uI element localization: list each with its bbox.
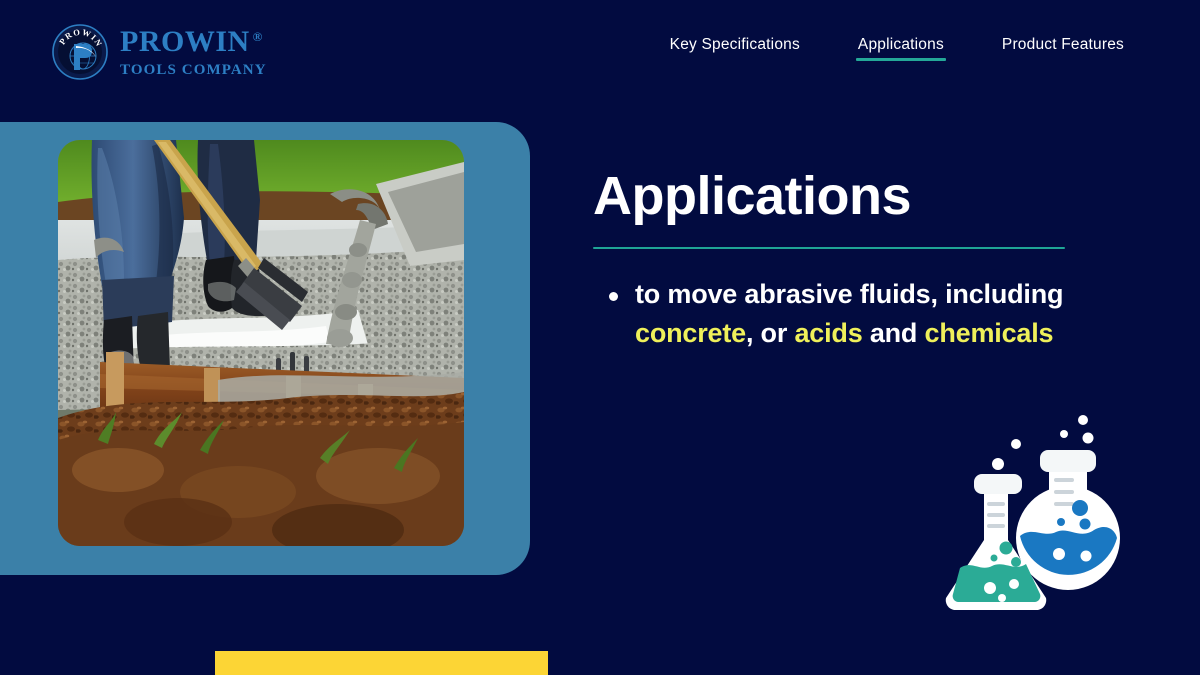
bullet-segment-highlight: acids bbox=[794, 318, 862, 348]
brand-subtitle: TOOLS COMPANY bbox=[120, 63, 267, 78]
main-nav: Key Specifications Applications Product … bbox=[670, 36, 1124, 61]
brand-logo[interactable]: PROWIN PROWIN ® TOOLS COMPANY bbox=[52, 24, 267, 80]
nav-item-applications[interactable]: Applications bbox=[858, 36, 944, 61]
prowin-globe-emblem-icon: PROWIN bbox=[52, 24, 108, 80]
slide-header: PROWIN PROWIN ® TOOLS COMPANY bbox=[0, 0, 1200, 112]
yellow-accent-bar bbox=[215, 651, 548, 675]
bullet-segment-text: and bbox=[863, 318, 925, 348]
bullet-segment-highlight: concrete bbox=[635, 318, 746, 348]
brand-name-text: PROWIN bbox=[120, 27, 250, 57]
construction-concrete-pour-photo bbox=[58, 140, 464, 546]
nav-item-key-specifications[interactable]: Key Specifications bbox=[670, 36, 800, 61]
slide-canvas: PROWIN PROWIN ® TOOLS COMPANY bbox=[0, 0, 1200, 675]
applications-content: Applications to move abrasive fluids, in… bbox=[593, 168, 1073, 353]
registered-mark-icon: ® bbox=[253, 30, 263, 43]
lab-flasks-icon bbox=[928, 412, 1128, 620]
brand-wordmark: PROWIN ® TOOLS COMPANY bbox=[120, 27, 267, 78]
page-title: Applications bbox=[593, 168, 1073, 225]
title-divider bbox=[593, 247, 1065, 250]
bullet-segment-highlight: chemicals bbox=[925, 318, 1054, 348]
brand-name: PROWIN ® bbox=[120, 27, 267, 57]
list-item: to move abrasive fluids, including concr… bbox=[593, 275, 1073, 353]
bullet-segment-text: to move abrasive fluids, including bbox=[635, 279, 1063, 309]
bullet-segment-text: , or bbox=[746, 318, 795, 348]
nav-item-product-features[interactable]: Product Features bbox=[1002, 36, 1124, 61]
applications-bullet-list: to move abrasive fluids, including concr… bbox=[593, 275, 1073, 353]
